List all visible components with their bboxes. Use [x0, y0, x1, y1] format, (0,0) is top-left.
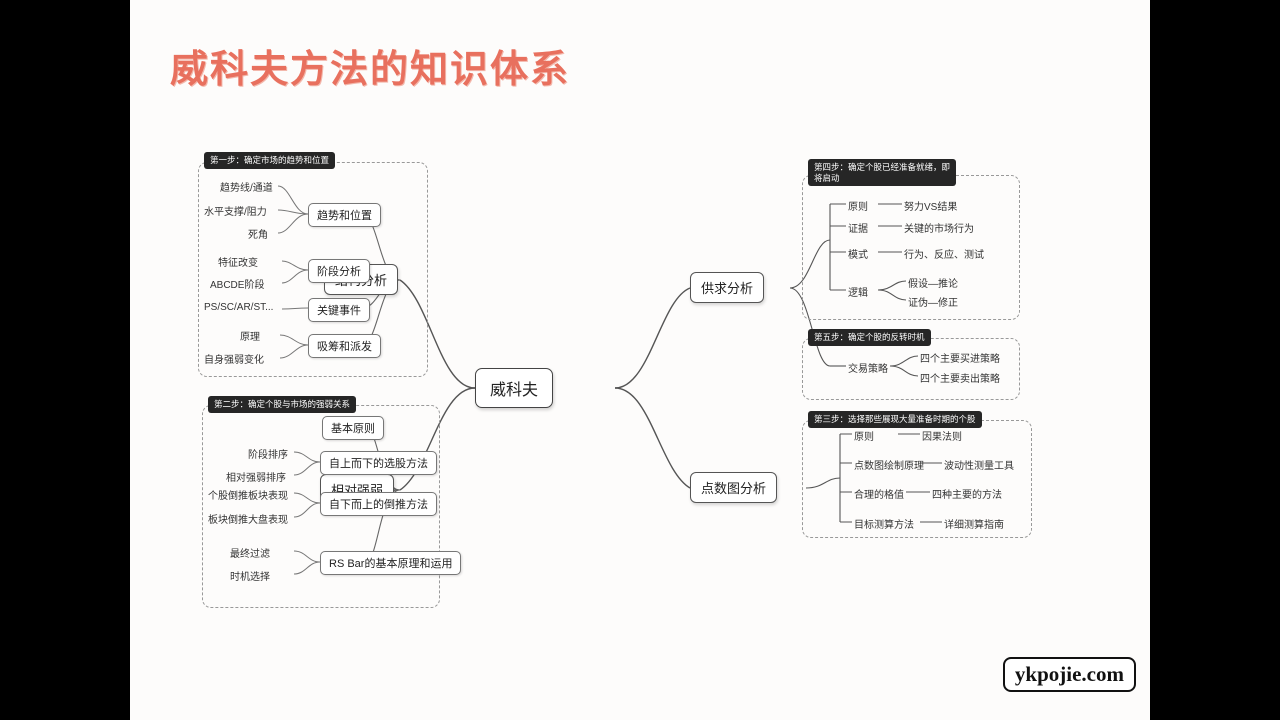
step5-row0-left: 交易策略: [848, 360, 888, 375]
sub-node-rs-bar[interactable]: RS Bar的基本原理和运用: [320, 551, 461, 575]
center-node[interactable]: 威科夫: [475, 368, 553, 408]
group-label-step5: 第五步：确定个股的反转时机: [808, 329, 931, 346]
step3-row1-right: 波动性测量工具: [944, 457, 1014, 472]
leaf-trendline: 趋势线/通道: [220, 179, 273, 194]
step4-row2-left: 模式: [848, 246, 868, 261]
group-label-step3: 第三步：选择那些展现大量准备时期的个股: [808, 411, 982, 428]
leaf-feature-change: 特征改变: [218, 254, 258, 269]
leaf-timing-selection: 时机选择: [230, 568, 270, 583]
step4-row2-right: 行为、反应、测试: [904, 246, 984, 261]
sub-node-accumulation-distribution[interactable]: 吸筹和派发: [308, 334, 381, 358]
leaf-relative-strength-ranking: 相对强弱排序: [226, 469, 286, 484]
step4-row1-right: 关键的市场行为: [904, 220, 974, 235]
leaf-phase-ranking: 阶段排序: [248, 446, 288, 461]
step4-row0-left: 原则: [848, 198, 868, 213]
leaf-abcde-phase: ABCDE阶段: [210, 276, 264, 291]
leaf-sector-to-index: 板块倒推大盘表现: [208, 511, 288, 526]
leaf-final-filter: 最终过滤: [230, 545, 270, 560]
group-box-step5: [802, 338, 1020, 400]
leaf-support-resistance: 水平支撑/阻力: [204, 203, 267, 218]
leaf-ps-sc-ar-st: PS/SC/AR/ST...: [204, 302, 273, 313]
leaf-self-strength-change: 自身强弱变化: [204, 351, 264, 366]
leaf-dead-angle: 死角: [248, 226, 268, 241]
step4-row3-right: 假设—推论: [908, 275, 958, 290]
sub-node-phase-analysis[interactable]: 阶段分析: [308, 259, 370, 283]
slide-canvas: 威科夫方法的知识体系: [130, 0, 1150, 720]
step3-row2-right: 四种主要的方法: [932, 486, 1002, 501]
step3-row3-left: 目标测算方法: [854, 516, 914, 531]
step4-row0-right: 努力VS结果: [904, 198, 957, 213]
step5-row1-right: 四个主要卖出策略: [920, 370, 1000, 385]
step4-row1-left: 证据: [848, 220, 868, 235]
step3-row2-left: 合理的格值: [854, 486, 904, 501]
group-label-step1: 第一步：确定市场的趋势和位置: [204, 152, 335, 169]
step3-row3-right: 详细测算指南: [944, 516, 1004, 531]
sub-node-basic-principle[interactable]: 基本原则: [322, 416, 384, 440]
watermark: ykpojie.com: [1003, 657, 1136, 692]
sub-node-bottomup-method[interactable]: 自下而上的倒推方法: [320, 492, 437, 516]
step5-row0-right: 四个主要买进策略: [920, 350, 1000, 365]
branch-supply-demand[interactable]: 供求分析: [690, 272, 764, 303]
branch-point-figure[interactable]: 点数图分析: [690, 472, 777, 503]
sub-node-key-events[interactable]: 关键事件: [308, 298, 370, 322]
sub-node-topdown-selection[interactable]: 自上而下的选股方法: [320, 451, 437, 475]
sub-node-trend-position[interactable]: 趋势和位置: [308, 203, 381, 227]
step4-row4-right: 证伪—修正: [908, 294, 958, 309]
step4-row3-left: 逻辑: [848, 284, 868, 299]
step3-row1-left: 点数图绘制原理: [854, 457, 924, 472]
group-label-step4: 第四步：确定个股已经准备就绪，即 将启动: [808, 159, 956, 186]
leaf-principle-1: 原理: [240, 328, 260, 343]
screen: 威科夫方法的知识体系: [0, 0, 1280, 720]
step3-row0-right: 因果法则: [922, 428, 962, 443]
step3-row0-left: 原则: [854, 428, 874, 443]
leaf-stock-to-sector: 个股倒推板块表现: [208, 487, 288, 502]
group-label-step2: 第二步：确定个股与市场的强弱关系: [208, 396, 356, 413]
